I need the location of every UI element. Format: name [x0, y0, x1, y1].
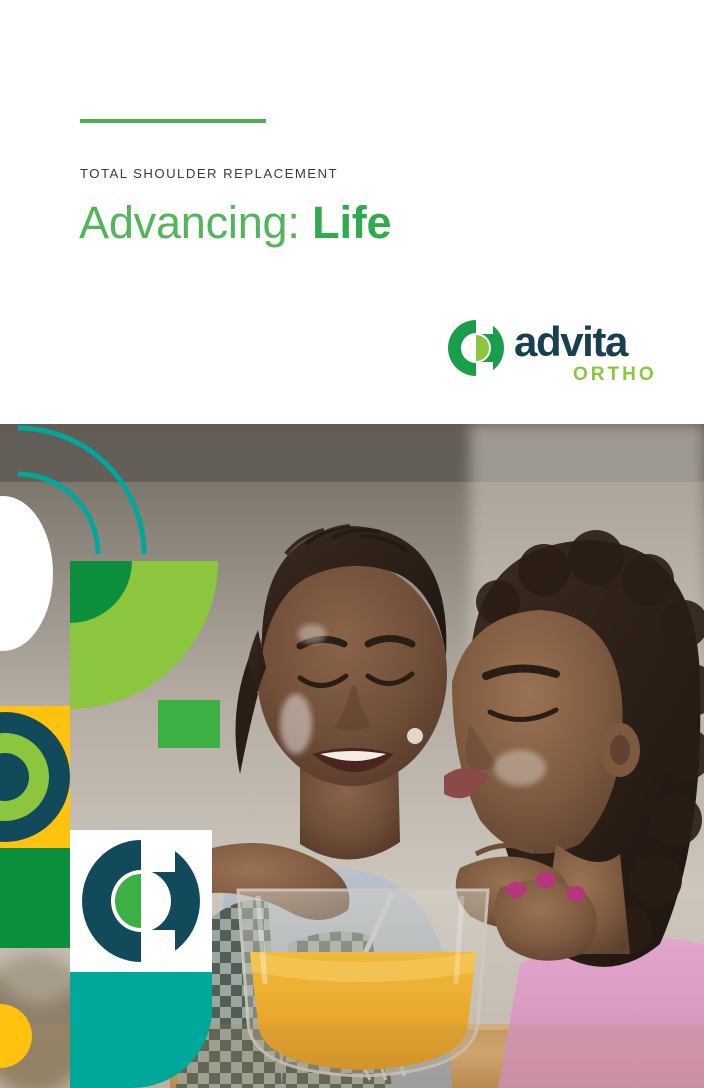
- brochure-cover-page: TOTAL SHOULDER REPLACEMENT Advancing: Li…: [0, 0, 704, 1088]
- advita-circle-mark-icon: [448, 320, 504, 376]
- teal-half-circle-shape: [70, 972, 212, 1088]
- headline-light: Advancing:: [79, 197, 300, 248]
- green-square-shape: [158, 700, 220, 748]
- accent-rule: [80, 119, 266, 123]
- logo-subtext: ORTHO: [573, 365, 657, 384]
- advita-ortho-logo[interactable]: advita ORTHO: [448, 318, 646, 390]
- headline-bold: Life: [312, 197, 391, 248]
- logo-wordmark: advita: [514, 321, 627, 363]
- advita-ring-mark-icon: [82, 840, 200, 962]
- white-logo-block: [70, 830, 212, 972]
- page-title: Advancing: Life: [79, 199, 391, 248]
- teal-arcs-shape: [0, 424, 220, 568]
- light-green-quarter-circle-shape: [70, 561, 218, 709]
- eyebrow-text: TOTAL SHOULDER REPLACEMENT: [80, 166, 338, 181]
- cover-header: TOTAL SHOULDER REPLACEMENT Advancing: Li…: [0, 0, 704, 424]
- yellow-concentric-rings-shape: [0, 706, 70, 848]
- green-quarter-circle-shape: [0, 848, 70, 948]
